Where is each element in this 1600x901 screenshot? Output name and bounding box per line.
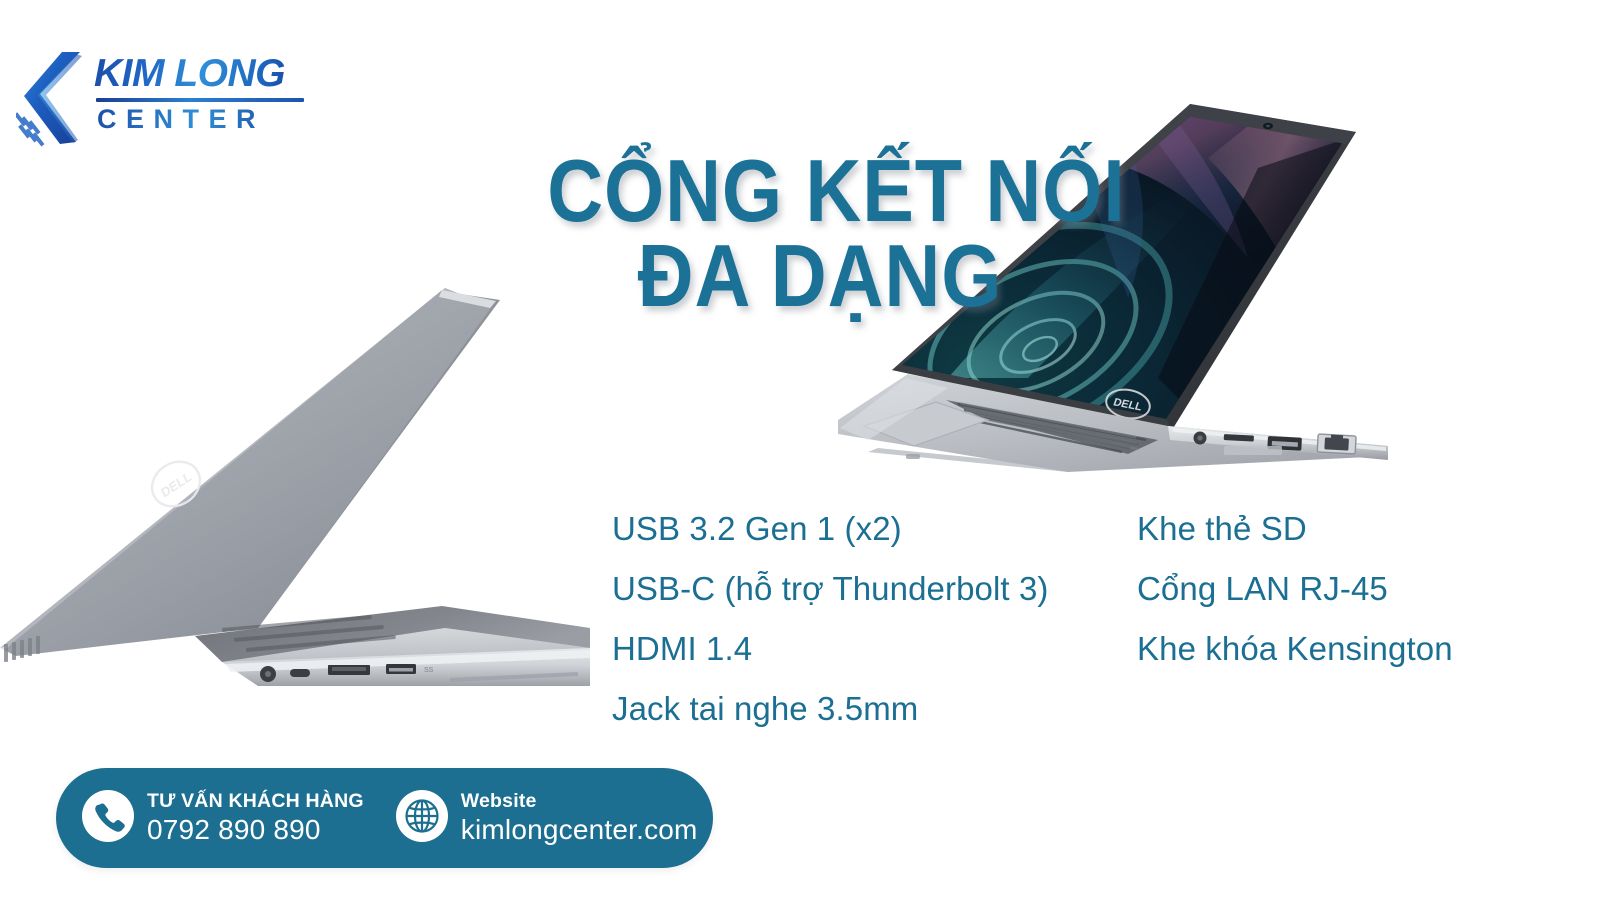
- website-url: kimlongcenter.com: [461, 813, 698, 846]
- list-item: Khe khóa Kensington: [1137, 618, 1542, 678]
- port-feature-list: USB 3.2 Gen 1 (x2) USB-C (hỗ trợ Thunder…: [612, 498, 1542, 738]
- globe-icon: [396, 790, 448, 847]
- brand-logo-text: KIM LONG CENTER: [94, 54, 309, 133]
- usb-c-port: [290, 669, 310, 677]
- list-item: Jack tai nghe 3.5mm: [612, 678, 1137, 738]
- list-item: USB 3.2 Gen 1 (x2): [612, 498, 1137, 558]
- contact-phone-group[interactable]: TƯ VẤN KHÁCH HÀNG 0792 890 890: [82, 790, 364, 847]
- list-item: Cổng LAN RJ-45: [1137, 558, 1542, 618]
- svg-text:SS: SS: [424, 667, 434, 674]
- feature-column-left: USB 3.2 Gen 1 (x2) USB-C (hỗ trợ Thunder…: [612, 498, 1137, 738]
- phone-number: 0792 890 890: [147, 813, 364, 846]
- feature-column-right: Khe thẻ SD Cổng LAN RJ-45 Khe khóa Kensi…: [1137, 498, 1542, 738]
- brand-name-line1: KIM LONG: [94, 54, 309, 93]
- brand-name-line2: CENTER: [94, 106, 309, 133]
- page-title: CỔNG KẾT NỐI ĐA DẠNG: [510, 148, 1130, 319]
- product-image-left-laptop: DELL SS: [0, 276, 590, 686]
- page-title-line2: ĐA DẠNG: [547, 233, 1093, 318]
- phone-label: TƯ VẤN KHÁCH HÀNG: [147, 790, 364, 812]
- list-item: Khe thẻ SD: [1137, 498, 1542, 558]
- list-item: HDMI 1.4: [612, 618, 1137, 678]
- contact-website-group[interactable]: Website kimlongcenter.com: [396, 790, 698, 847]
- rj45-lan-port: [1317, 434, 1356, 454]
- page-title-line1: CỔNG KẾT NỐI: [547, 148, 1093, 233]
- contact-footer-bar: TƯ VẤN KHÁCH HÀNG 0792 890 890 Website k…: [56, 768, 713, 868]
- brand-logo[interactable]: KIM LONG CENTER: [16, 44, 316, 154]
- logo-divider: [96, 98, 304, 102]
- chevron-logo-mark: [16, 50, 88, 148]
- list-item: USB-C (hỗ trợ Thunderbolt 3): [612, 558, 1137, 618]
- website-label: Website: [461, 790, 698, 812]
- phone-icon: [82, 790, 134, 847]
